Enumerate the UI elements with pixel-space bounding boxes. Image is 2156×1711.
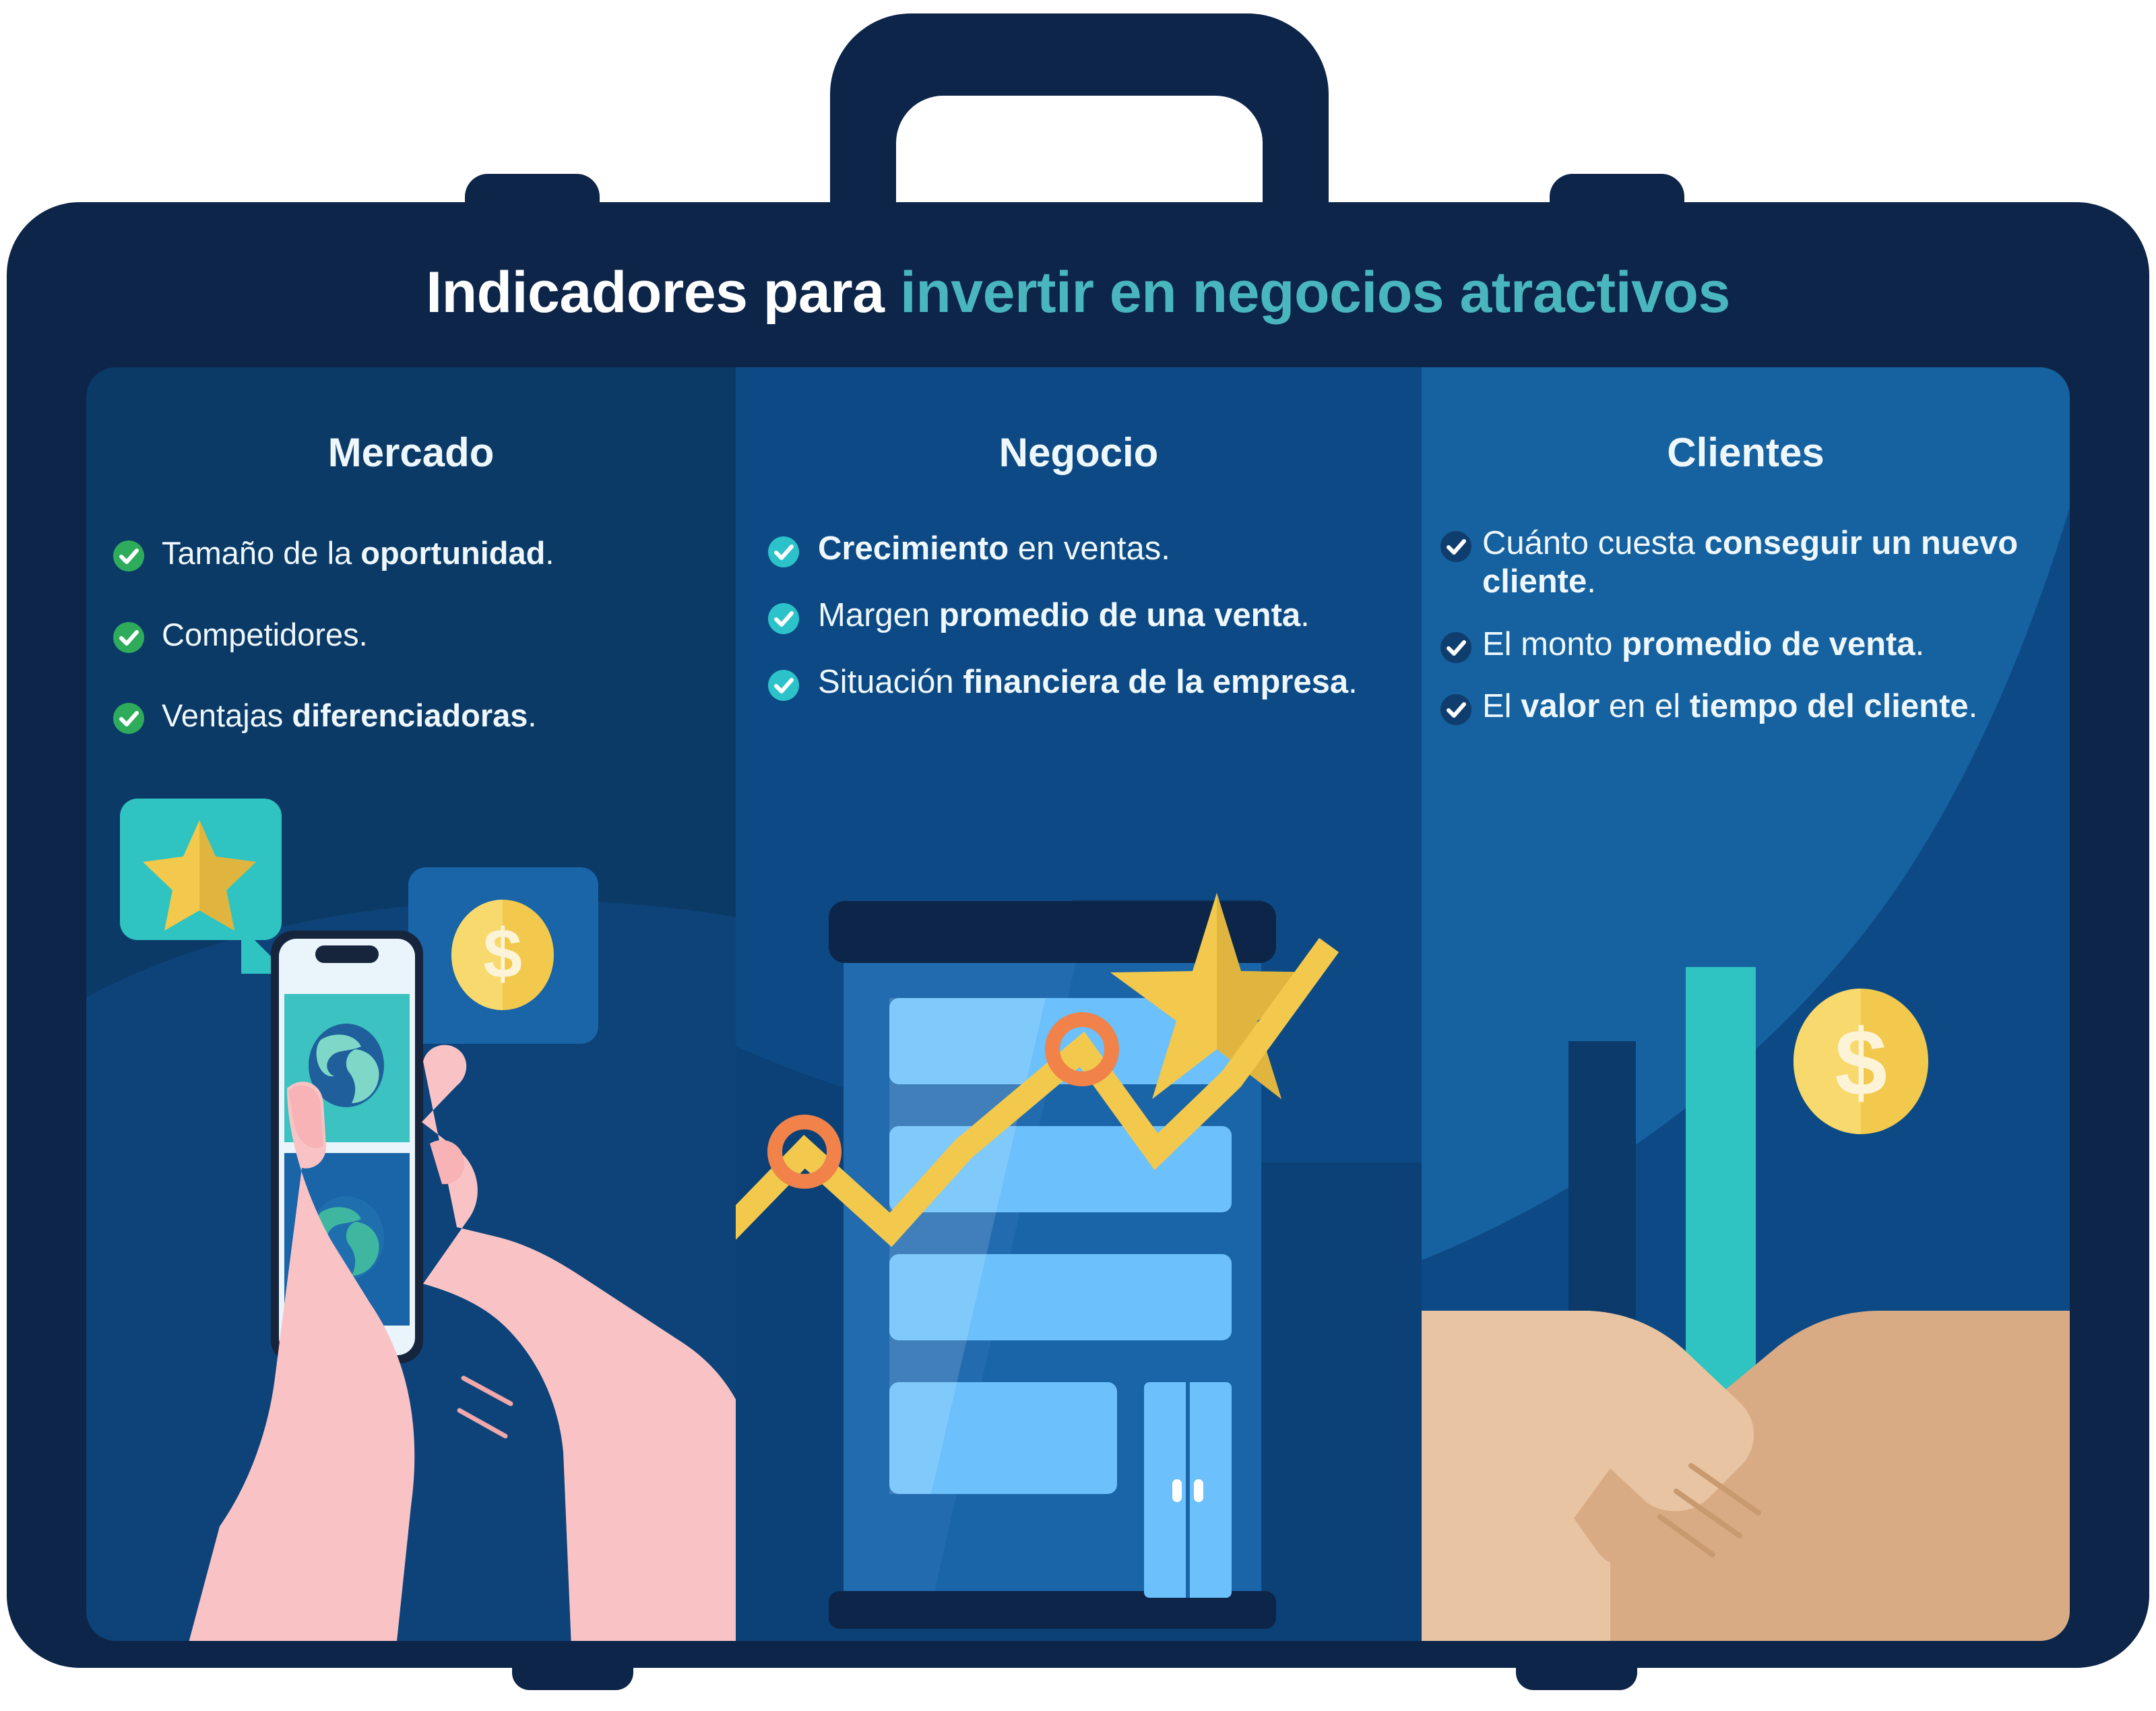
list-item: Situación financiera de la empresa. [768, 663, 1374, 702]
check-circle-teal-icon [768, 536, 799, 567]
office-building-chart-illustration [736, 879, 1422, 1641]
check-circle-navy-icon [1440, 632, 1471, 663]
page-title-main: Indicadores para [426, 260, 900, 325]
check-circle-green-icon [113, 622, 144, 653]
column-heading-negocio: Negocio [736, 367, 1422, 476]
list-item: Ventajas diferenciadoras. [113, 697, 706, 735]
column-negocio: Negocio Crecimiento en ventas. Margen pr… [736, 367, 1422, 1641]
check-circle-teal-icon [768, 603, 799, 634]
list-item: El monto promedio de venta. [1440, 625, 2047, 664]
dollar-coin-icon: $ [1794, 989, 1928, 1134]
bullet-text: Competidores. [162, 617, 368, 654]
right-hand-illustration [422, 1045, 736, 1641]
check-circle-navy-icon [1440, 694, 1471, 725]
column-mercado: Mercado Tamaño de la oportunidad. Compet… [86, 367, 736, 1641]
bullet-text: Crecimiento en ventas. [818, 530, 1170, 568]
column-heading-clientes: Clientes [1422, 367, 2070, 476]
hand-holding-phone-illustration: $ [106, 772, 736, 1641]
bullet-text: Margen promedio de una venta. [818, 596, 1310, 635]
page-title: Indicadores para invertir en negocios at… [0, 259, 2156, 326]
page-title-accent: invertir en negocios atractivos [900, 260, 1730, 325]
check-circle-teal-icon [768, 670, 799, 701]
bullet-text: Situación financiera de la empresa. [818, 663, 1358, 702]
check-circle-green-icon [113, 540, 144, 571]
speech-bubble-icon [120, 799, 288, 974]
list-item: Margen promedio de una venta. [768, 596, 1374, 635]
bullet-text: Cuánto cuesta conseguir un nuevo cliente… [1482, 524, 2047, 601]
bullet-text: Ventajas diferenciadoras. [162, 697, 536, 735]
check-circle-navy-icon [1440, 531, 1471, 562]
bullet-list-mercado: Tamaño de la oportunidad. Competidores. … [113, 535, 706, 735]
infographic-canvas: Indicadores para invertir en negocios at… [0, 0, 2156, 1711]
columns-panel: Mercado Tamaño de la oportunidad. Compet… [86, 367, 2070, 1641]
list-item: Tamaño de la oportunidad. [113, 535, 706, 572]
handshake-illustration: $ [1422, 839, 2070, 1641]
bullet-text: El valor en el tiempo del cliente. [1482, 687, 1977, 726]
column-clientes: Clientes Cuánto cuesta conseguir un nuev… [1422, 367, 2070, 1641]
svg-text:$: $ [1835, 1009, 1887, 1115]
dollar-coin-bubble-icon: $ [408, 867, 598, 1044]
bullet-text: El monto promedio de venta. [1482, 625, 1924, 664]
column-heading-mercado: Mercado [86, 367, 736, 476]
bullet-list-negocio: Crecimiento en ventas. Margen promedio d… [768, 530, 1374, 701]
check-circle-green-icon [113, 703, 144, 734]
list-item: Cuánto cuesta conseguir un nuevo cliente… [1440, 524, 2047, 601]
list-item: Crecimiento en ventas. [768, 530, 1374, 568]
bullet-list-clientes: Cuánto cuesta conseguir un nuevo cliente… [1440, 524, 2047, 726]
bullet-text: Tamaño de la oportunidad. [162, 535, 554, 572]
svg-text:$: $ [483, 915, 522, 993]
list-item: Competidores. [113, 617, 706, 654]
list-item: El valor en el tiempo del cliente. [1440, 687, 2047, 726]
